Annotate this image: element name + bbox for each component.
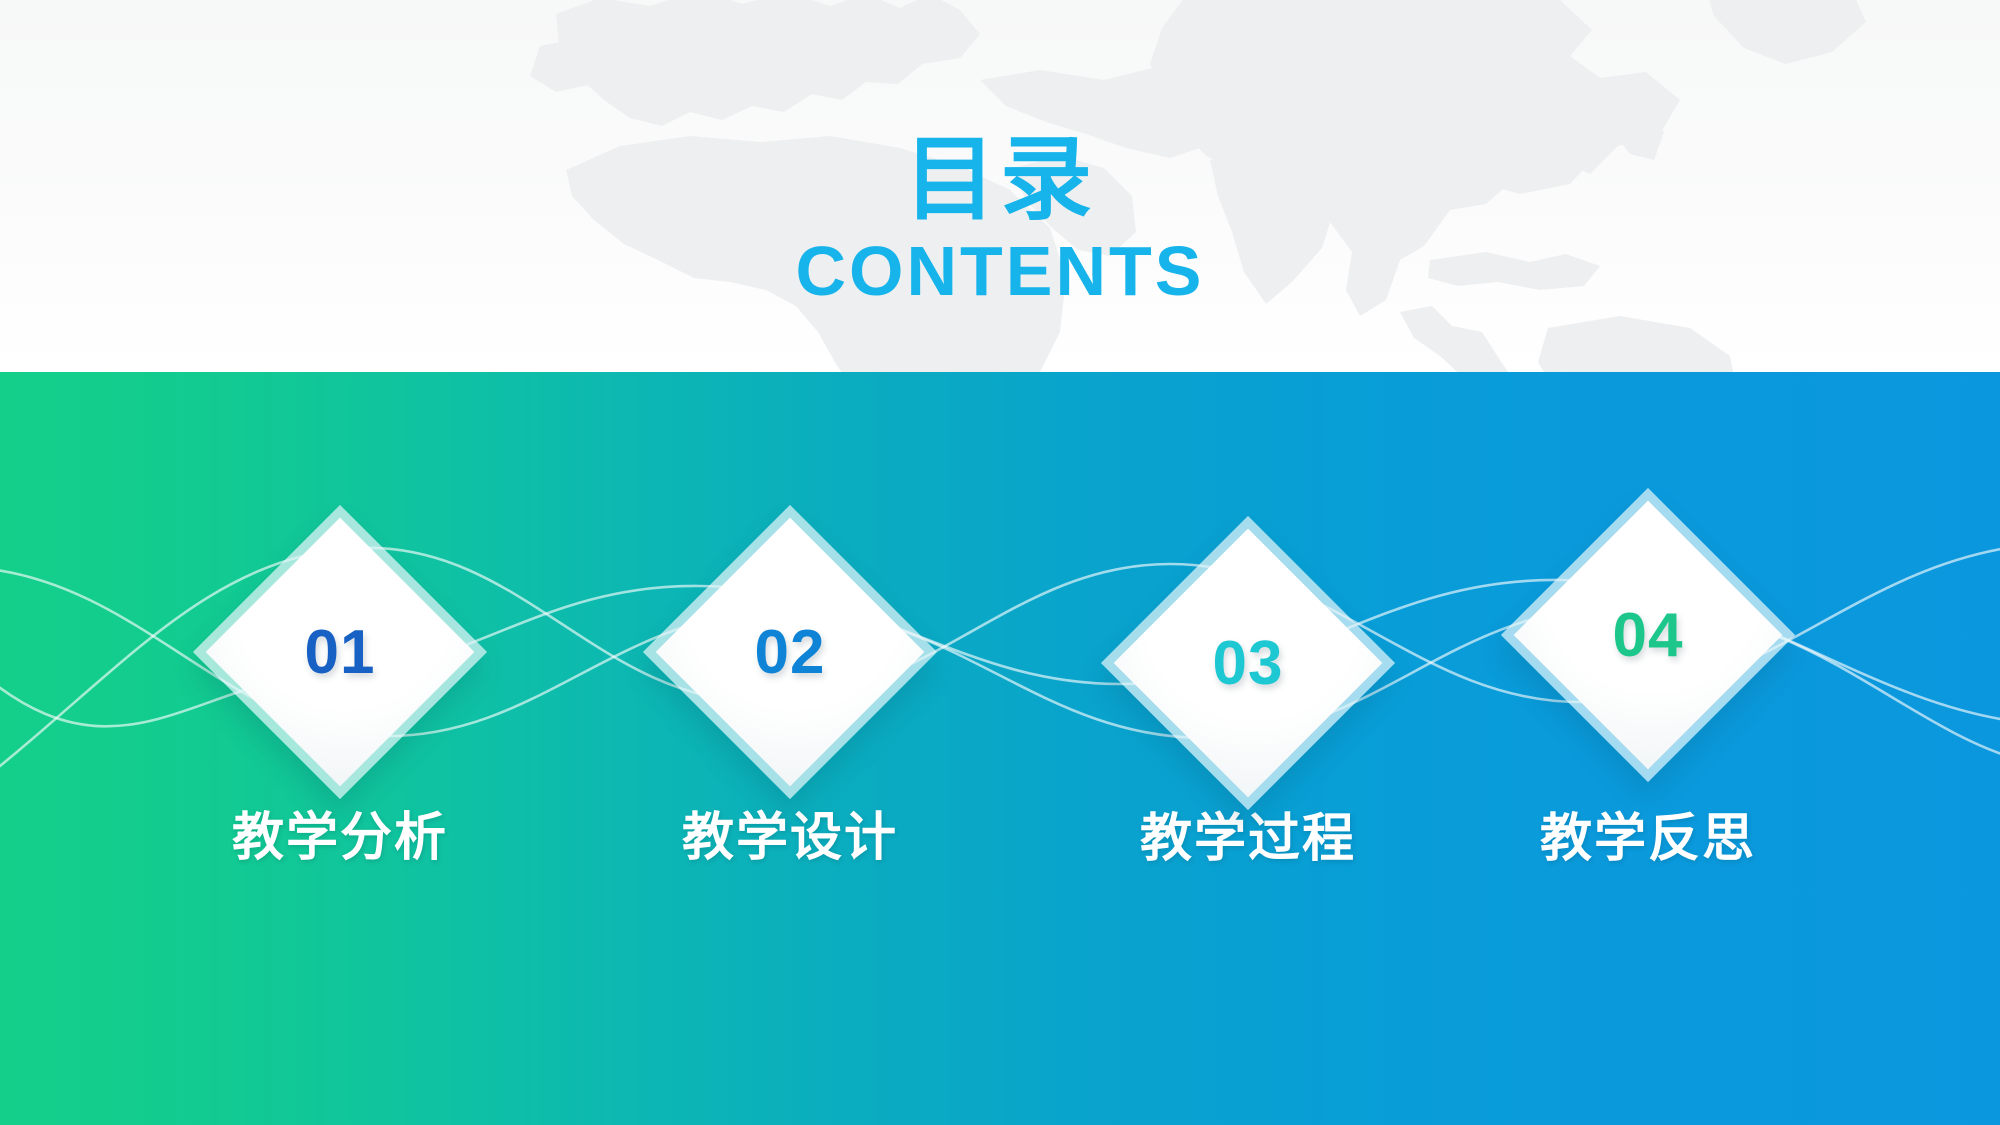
diamond-badge-02[interactable]: 02 (695, 557, 885, 747)
diamond-badge-01[interactable]: 01 (245, 557, 435, 747)
content-item-04[interactable]: 04 教学反思 (1498, 540, 1798, 868)
item-number-01: 01 (245, 557, 435, 747)
header-area: 目录 CONTENTS (0, 0, 2000, 372)
item-number-03: 03 (1153, 568, 1343, 758)
content-item-01[interactable]: 01 教学分析 (190, 557, 490, 867)
content-item-03[interactable]: 03 教学过程 (1098, 568, 1398, 868)
page-title-cn: 目录 (0, 132, 2000, 228)
page-title-en: CONTENTS (0, 234, 2000, 308)
item-label-04: 教学反思 (1498, 810, 1798, 868)
item-label-03: 教学过程 (1098, 810, 1398, 868)
diamond-badge-03[interactable]: 03 (1153, 568, 1343, 758)
content-item-02[interactable]: 02 教学设计 (640, 557, 940, 867)
item-label-02: 教学设计 (640, 809, 940, 867)
content-band: 01 教学分析 02 教学设计 03 教学过程 04 (0, 372, 2000, 1125)
diamond-badge-04[interactable]: 04 (1553, 540, 1743, 730)
item-number-04: 04 (1553, 540, 1743, 730)
slide-canvas: 目录 CONTENTS 01 教学分析 (0, 0, 2000, 1125)
item-label-01: 教学分析 (190, 809, 490, 867)
item-number-02: 02 (695, 557, 885, 747)
title-block: 目录 CONTENTS (0, 132, 2000, 308)
